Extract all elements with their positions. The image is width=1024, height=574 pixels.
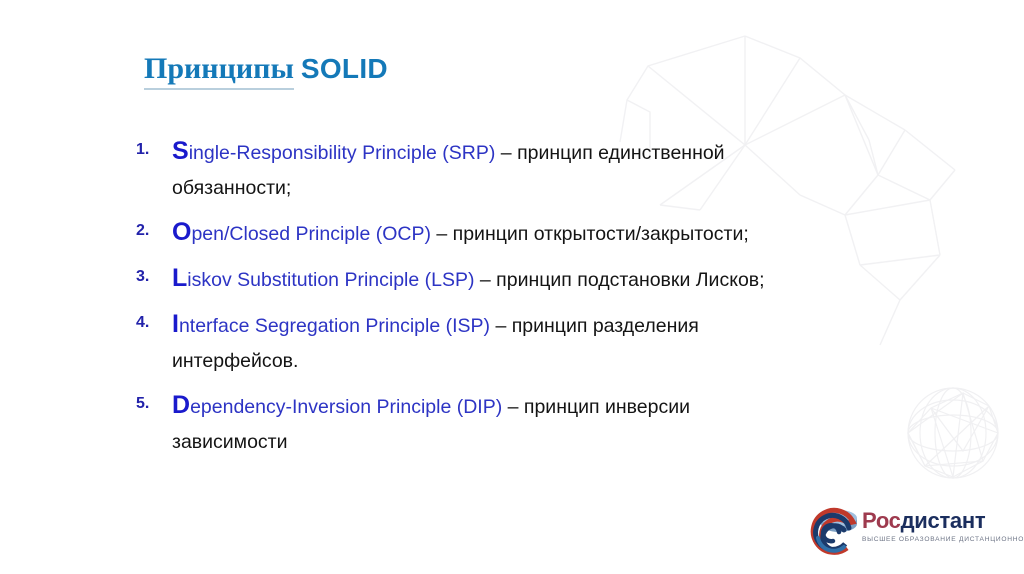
list-item-text: Single-Responsibility Principle (SRP) – … bbox=[172, 142, 725, 199]
logo-text-block: Росдистант ВЫСШЕЕ ОБРАЗОВАНИЕ ДИСТАНЦИОН… bbox=[862, 509, 1024, 543]
list-item-text: Dependency-Inversion Principle (DIP) – п… bbox=[172, 396, 690, 453]
logo-wordmark: Росдистант bbox=[862, 509, 1024, 533]
list-item-russian: – принцип подстановки Лисков; bbox=[475, 269, 765, 291]
list-item-number: 5. bbox=[136, 395, 149, 413]
slide-canvas: ПринципыSOLID 1. Single-Responsibility P… bbox=[0, 0, 1024, 574]
list-item-text: Interface Segregation Principle (ISP) – … bbox=[172, 315, 699, 372]
logo-wordmark-ros: Рос bbox=[862, 508, 901, 533]
list-item-english: pen/Closed Principle (OCP) bbox=[191, 223, 431, 245]
list-item-english: ingle-Responsibility Principle (SRP) bbox=[189, 142, 496, 164]
list-item-russian: – принцип открытости/закрытости; bbox=[431, 223, 749, 245]
list-item-number: 3. bbox=[136, 268, 149, 286]
page-title-en: SOLID bbox=[301, 53, 388, 84]
rosdistant-globe-icon bbox=[806, 505, 860, 555]
list-item-number: 2. bbox=[136, 222, 149, 240]
list-item-text: Liskov Substitution Principle (LSP) – пр… bbox=[172, 269, 765, 291]
list-item: 3. Liskov Substitution Principle (LSP) –… bbox=[136, 263, 776, 298]
list-item: 2. Open/Closed Principle (OCP) – принцип… bbox=[136, 217, 776, 252]
list-item-initial: S bbox=[172, 137, 189, 165]
list-item: 5. Dependency-Inversion Principle (DIP) … bbox=[136, 390, 776, 460]
page-title: ПринципыSOLID bbox=[144, 52, 388, 86]
list-item-number: 1. bbox=[136, 141, 149, 159]
list-item: 1. Single-Responsibility Principle (SRP)… bbox=[136, 136, 776, 206]
list-item-initial: I bbox=[172, 310, 179, 338]
list-item: 4. Interface Segregation Principle (ISP)… bbox=[136, 309, 776, 379]
list-item-initial: D bbox=[172, 391, 190, 419]
solid-principles-list: 1. Single-Responsibility Principle (SRP)… bbox=[136, 136, 776, 471]
list-item-text: Open/Closed Principle (OCP) – принцип от… bbox=[172, 223, 749, 245]
page-title-ru: Принципы bbox=[144, 52, 294, 90]
rosdistant-logo: Росдистант ВЫСШЕЕ ОБРАЗОВАНИЕ ДИСТАНЦИОН… bbox=[806, 503, 1018, 559]
list-item-english: nterface Segregation Principle (ISP) bbox=[179, 315, 490, 337]
list-item-number: 4. bbox=[136, 314, 149, 332]
logo-wordmark-distant: дистант bbox=[901, 508, 986, 533]
list-item-english: iskov Substitution Principle (LSP) bbox=[187, 269, 474, 291]
list-item-initial: L bbox=[172, 264, 187, 292]
list-item-initial: O bbox=[172, 218, 191, 246]
list-item-english: ependency-Inversion Principle (DIP) bbox=[190, 396, 502, 418]
logo-tagline: ВЫСШЕЕ ОБРАЗОВАНИЕ ДИСТАНЦИОННО bbox=[862, 536, 1024, 543]
